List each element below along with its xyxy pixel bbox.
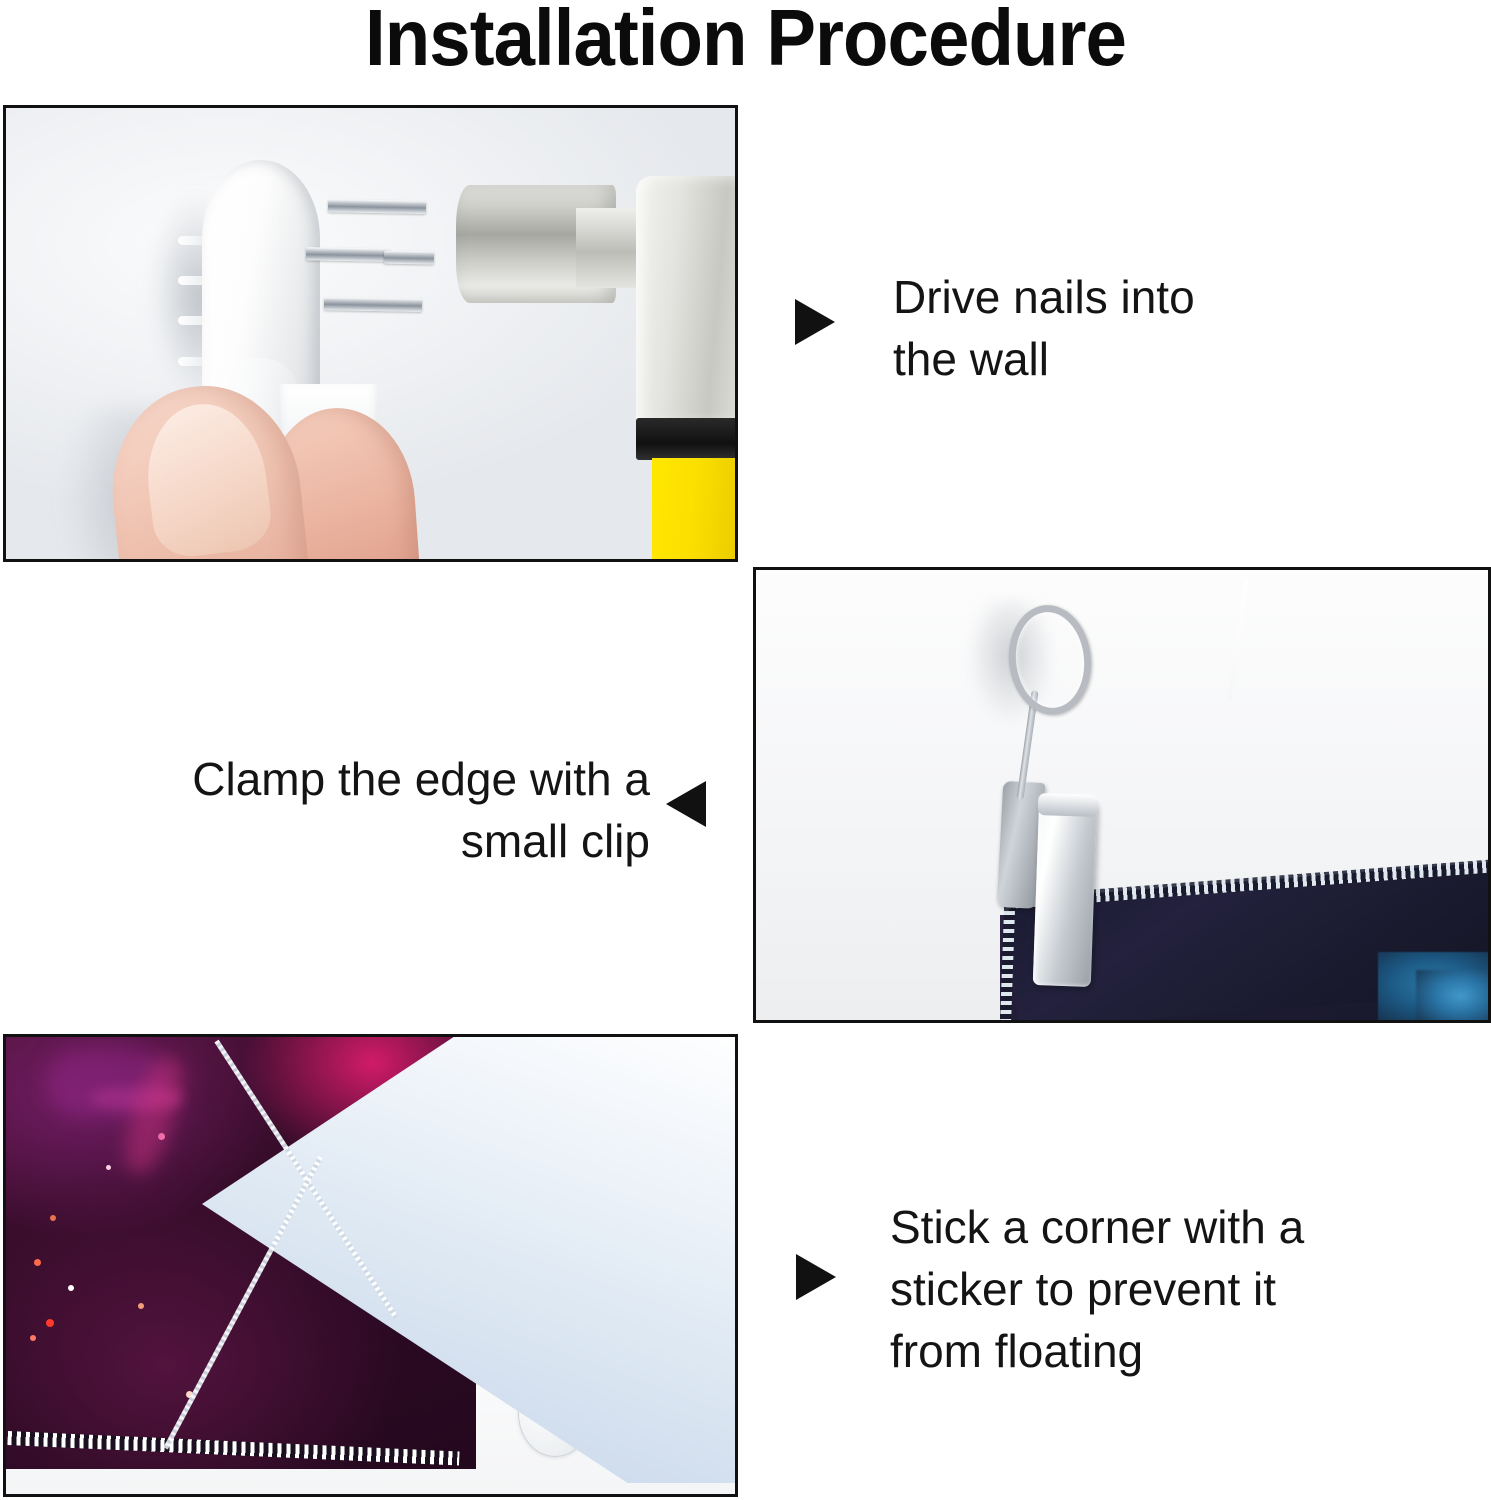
- triangle-right-icon: [796, 1254, 836, 1300]
- corner-sticker-photo: [6, 1037, 735, 1494]
- artwork-sparkle: [50, 1215, 56, 1221]
- clip-front-jaw: [1033, 797, 1098, 987]
- artwork-sparkle: [68, 1285, 74, 1291]
- artwork-sparkle: [106, 1165, 111, 1170]
- step-1-photo: [3, 105, 738, 562]
- page-title: Installation Procedure: [52, 0, 1439, 82]
- steel-pin: [384, 251, 434, 265]
- artwork-sparkle: [138, 1303, 144, 1309]
- hammer-handle: [652, 458, 738, 562]
- step-2-photo: [753, 567, 1491, 1023]
- step-1-caption: Drive nails into the wall: [893, 266, 1313, 390]
- hammer-body: [636, 176, 738, 424]
- artwork-sparkle: [46, 1319, 54, 1327]
- triangle-left-icon: [666, 781, 706, 827]
- step-3-caption: Stick a corner with a sticker to prevent…: [890, 1196, 1370, 1382]
- artwork-blue-highlight: [1416, 970, 1491, 1023]
- clip-lip: [1038, 793, 1099, 817]
- step-2-caption: Clamp the edge with a small clip: [60, 748, 650, 872]
- nail-hook-hammer-photo: [6, 108, 735, 559]
- steel-pin: [306, 247, 390, 261]
- triangle-right-icon: [795, 299, 835, 345]
- hammer-collar: [636, 418, 738, 460]
- artwork-sparkle: [34, 1259, 41, 1266]
- artwork-sparkle: [30, 1335, 36, 1341]
- steel-pin: [324, 297, 422, 312]
- steel-pin: [328, 199, 426, 214]
- clip-hanging-tapestry-photo: [756, 570, 1488, 1020]
- step-3-photo: [3, 1034, 738, 1497]
